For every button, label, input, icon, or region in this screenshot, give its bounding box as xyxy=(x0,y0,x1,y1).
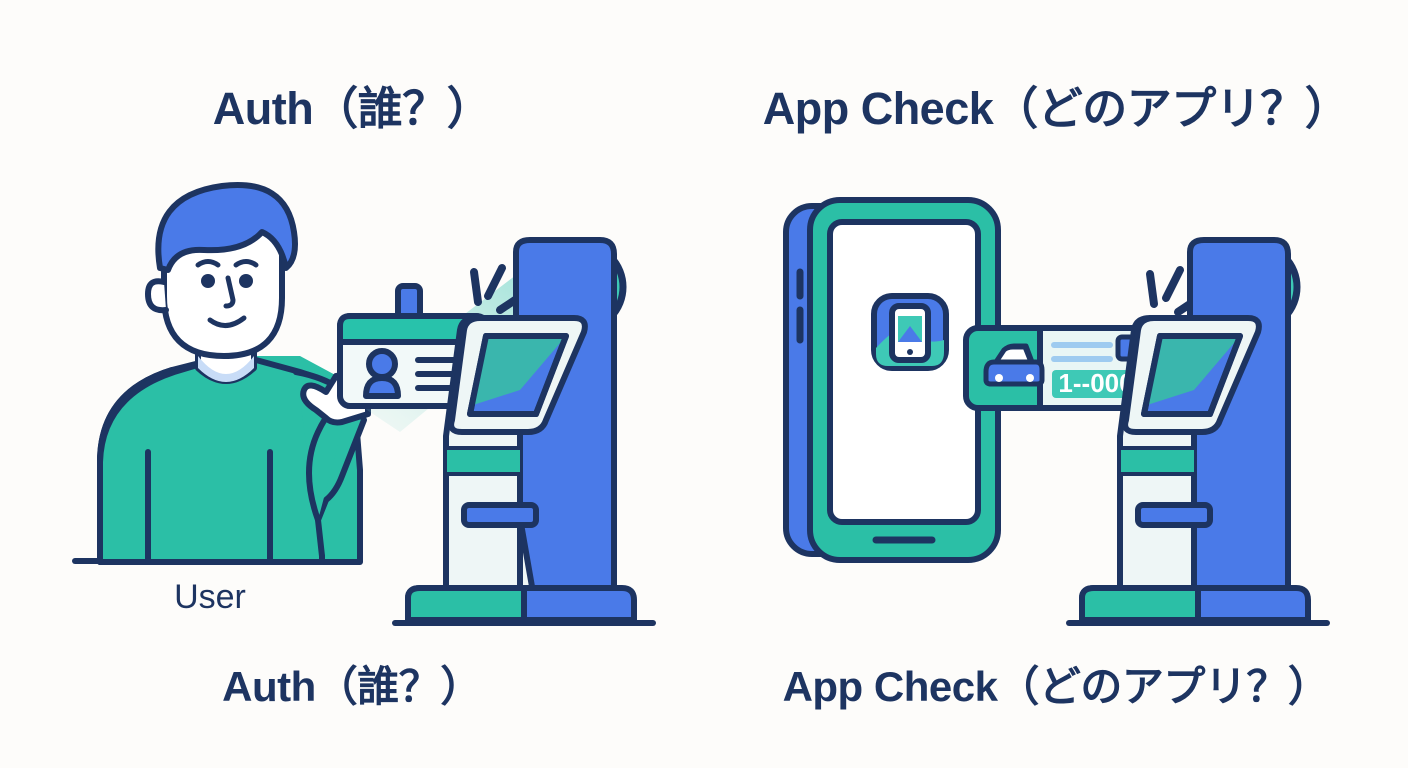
panel-auth-caption: Auth（誰？） xyxy=(0,653,704,714)
panel-app-check-caption: App Check（どのアプリ？） xyxy=(704,653,1408,714)
person-figure xyxy=(100,185,364,562)
app-check-scene-artwork: 1--000 xyxy=(704,0,1408,660)
panel-auth: Auth（誰？） xyxy=(0,0,704,768)
panel-app-check: App Check（どのアプリ？） xyxy=(704,0,1408,768)
ground-line-kiosk xyxy=(1066,620,1330,626)
subject-label-user: User xyxy=(100,578,320,617)
ground-line-kiosk xyxy=(392,620,656,626)
kiosk xyxy=(408,240,634,620)
kiosk xyxy=(1082,240,1308,620)
auth-scene-artwork xyxy=(0,0,704,660)
license-plate-number: 1--000 xyxy=(1058,368,1133,398)
diagram-canvas: Auth（誰？） xyxy=(0,0,1408,768)
app-tile-icon xyxy=(874,296,946,368)
